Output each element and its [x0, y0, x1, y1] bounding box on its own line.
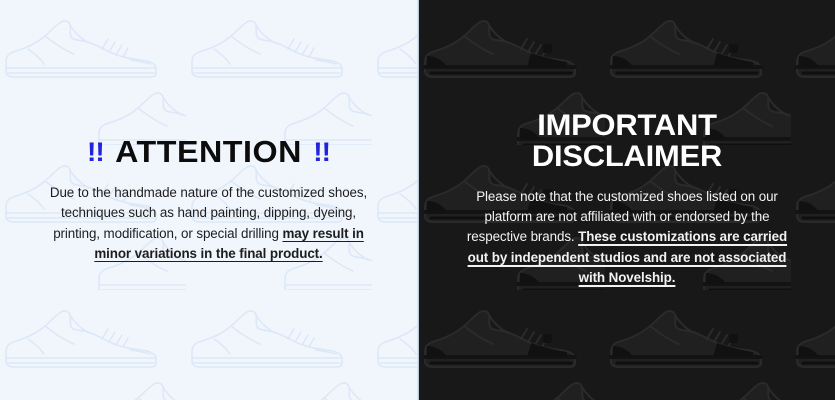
disclaimer-heading: IMPORTANT DISCLAIMER — [437, 111, 816, 172]
attention-heading-text: ATTENTION — [115, 134, 302, 169]
disclaimer-panel: IMPORTANT DISCLAIMER Please note that th… — [419, 0, 835, 400]
attention-heading: !!ATTENTION!! — [17, 136, 401, 167]
attention-panel: !!ATTENTION!! Due to the handmade nature… — [0, 0, 417, 400]
attention-panel-content: !!ATTENTION!! Due to the handmade nature… — [0, 136, 417, 265]
double-exclamation-right-icon: !! — [313, 139, 330, 166]
attention-body: Due to the handmade nature of the custom… — [44, 183, 374, 265]
disclaimer-heading-line1: IMPORTANT — [437, 111, 816, 142]
disclaimer-heading-line2: DISCLAIMER — [437, 142, 816, 173]
customization-disclaimer-banner: !!ATTENTION!! Due to the handmade nature… — [0, 0, 835, 400]
disclaimer-panel-content: IMPORTANT DISCLAIMER Please note that th… — [419, 111, 835, 288]
double-exclamation-left-icon: !! — [87, 139, 104, 166]
disclaimer-body: Please note that the customized shoes li… — [461, 187, 793, 289]
